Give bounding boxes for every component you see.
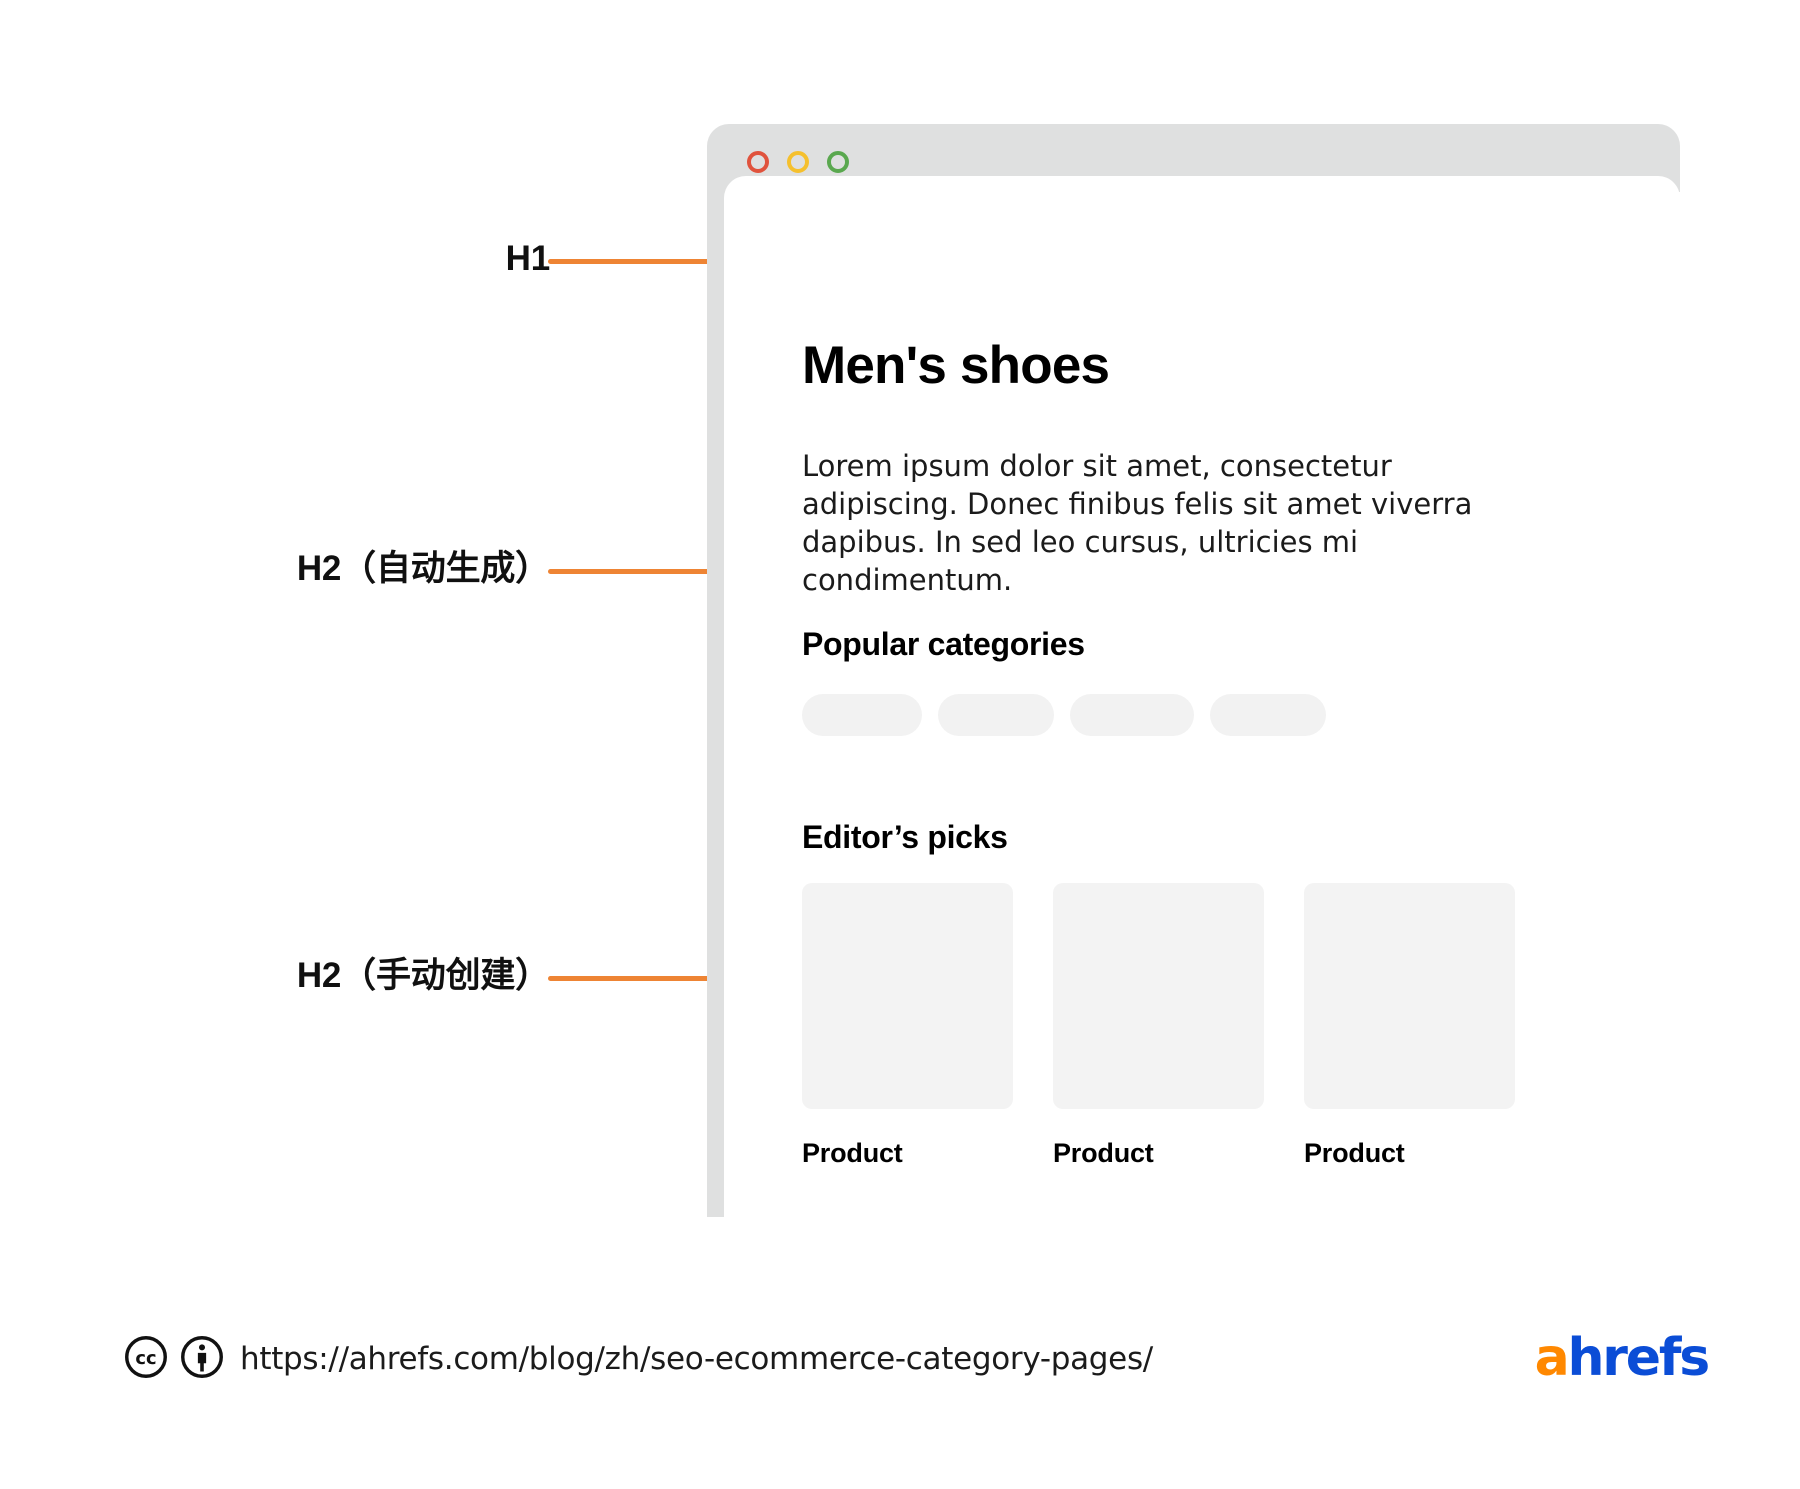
ahrefs-logo: ahrefs xyxy=(1535,1332,1708,1384)
product-card[interactable]: Product xyxy=(1304,883,1515,1167)
browser-window-mockup: Men's shoes Lorem ipsum dolor sit amet, … xyxy=(707,124,1680,1217)
ahrefs-logo-accent-letter: a xyxy=(1535,1328,1568,1388)
svg-text:cc: cc xyxy=(135,1348,156,1369)
license-icon-group: cc xyxy=(124,1335,224,1379)
footer-source-url[interactable]: https://ahrefs.com/blog/zh/seo-ecommerce… xyxy=(240,1341,1153,1377)
heading-editors-picks: Editor’s picks xyxy=(802,821,1008,853)
attribution-icon xyxy=(180,1335,224,1379)
footer: cc https://ahrefs.com/blog/zh/seo-ecomme… xyxy=(0,1320,1800,1420)
annotation-label-h2-manual: H2（手动创建） xyxy=(297,958,550,993)
product-image-placeholder xyxy=(1053,883,1264,1109)
close-dot-icon[interactable] xyxy=(747,151,769,173)
creative-commons-icon: cc xyxy=(124,1335,168,1379)
heading-popular-categories: Popular categories xyxy=(802,628,1085,660)
category-pill-placeholder[interactable] xyxy=(1070,694,1194,736)
category-pill-placeholder[interactable] xyxy=(1210,694,1326,736)
category-pill-placeholder[interactable] xyxy=(802,694,922,736)
maximize-dot-icon[interactable] xyxy=(827,151,849,173)
product-card[interactable]: Product xyxy=(1053,883,1264,1167)
product-label: Product xyxy=(1053,1140,1264,1167)
browser-viewport: Men's shoes Lorem ipsum dolor sit amet, … xyxy=(724,176,1680,1217)
page-title-h1: Men's shoes xyxy=(802,339,1109,392)
page-intro-paragraph: Lorem ipsum dolor sit amet, consectetur … xyxy=(802,447,1502,599)
annotation-label-h1: H1 xyxy=(506,241,550,276)
product-card[interactable]: Product xyxy=(802,883,1013,1167)
ahrefs-logo-text: hrefs xyxy=(1567,1328,1708,1388)
product-image-placeholder xyxy=(1304,883,1515,1109)
category-pill-list xyxy=(802,694,1326,736)
annotation-label-h2-auto: H2（自动生成） xyxy=(297,551,550,586)
product-image-placeholder xyxy=(802,883,1013,1109)
category-pill-placeholder[interactable] xyxy=(938,694,1054,736)
product-label: Product xyxy=(1304,1140,1515,1167)
product-label: Product xyxy=(802,1140,1013,1167)
product-grid: Product Product Product xyxy=(802,883,1515,1167)
minimize-dot-icon[interactable] xyxy=(787,151,809,173)
